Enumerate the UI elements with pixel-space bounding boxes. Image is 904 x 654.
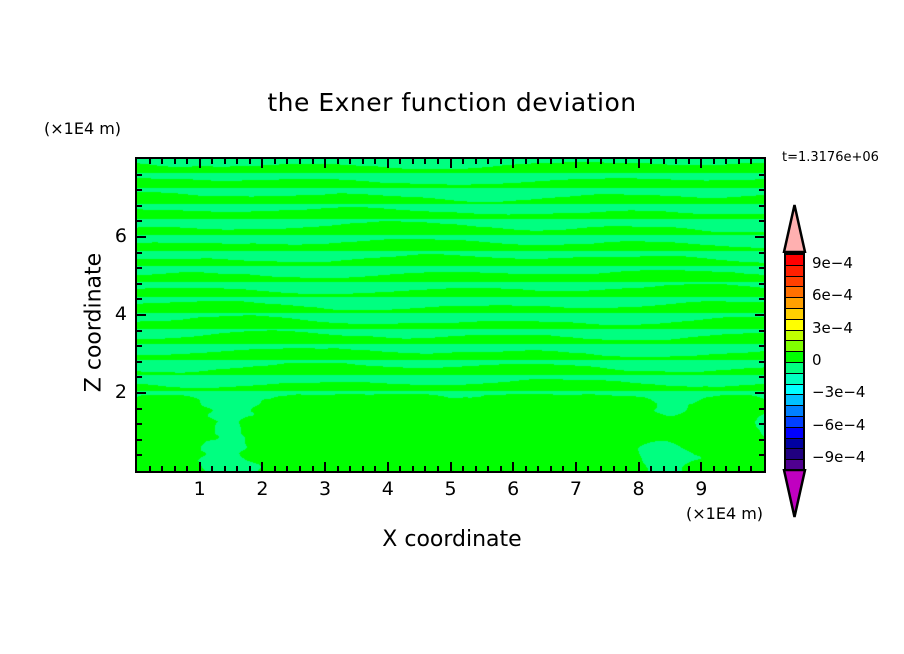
y-tick-minor-right bbox=[759, 205, 764, 207]
colorbar-tick-label: 3e−4 bbox=[812, 319, 853, 337]
colorbar-band bbox=[786, 298, 803, 309]
x-tick-minor-top bbox=[349, 159, 351, 164]
y-tick-minor-right bbox=[759, 408, 764, 410]
x-tick-minor-top bbox=[412, 159, 414, 164]
colorbar-band bbox=[786, 439, 803, 450]
x-tick-minor bbox=[613, 466, 615, 471]
x-tick-major bbox=[450, 462, 452, 471]
y-tick-minor-right bbox=[759, 439, 764, 441]
y-tick-minor bbox=[137, 330, 142, 332]
y-tick-minor bbox=[137, 439, 142, 441]
x-tick-major-top bbox=[324, 159, 326, 168]
x-tick-minor bbox=[224, 466, 226, 471]
x-tick-label: 1 bbox=[180, 478, 220, 500]
y-tick-major bbox=[137, 392, 146, 394]
x-tick-minor-top bbox=[211, 159, 213, 164]
x-tick-minor bbox=[174, 466, 176, 471]
x-tick-label: 4 bbox=[368, 478, 408, 500]
x-tick-minor bbox=[713, 466, 715, 471]
x-tick-major bbox=[199, 462, 201, 471]
x-tick-minor bbox=[149, 466, 151, 471]
x-tick-minor-top bbox=[462, 159, 464, 164]
x-tick-minor-top bbox=[525, 159, 527, 164]
x-tick-minor-top bbox=[224, 159, 226, 164]
colorbar-band bbox=[786, 395, 803, 406]
x-tick-minor-top bbox=[650, 159, 652, 164]
x-tick-minor-top bbox=[337, 159, 339, 164]
y-tick-minor bbox=[137, 345, 142, 347]
y-tick-minor bbox=[137, 220, 142, 222]
y-tick-label: 2 bbox=[87, 381, 127, 403]
colorbar-band bbox=[786, 417, 803, 428]
x-tick-minor bbox=[725, 466, 727, 471]
x-tick-minor-top bbox=[149, 159, 151, 164]
contour-plot-figure: the Exner function deviation (×1E4 m) t=… bbox=[0, 0, 904, 654]
x-tick-major bbox=[638, 462, 640, 471]
y-tick-minor-right bbox=[759, 267, 764, 269]
y-tick-minor bbox=[137, 205, 142, 207]
x-tick-minor bbox=[399, 466, 401, 471]
x-tick-minor-top bbox=[537, 159, 539, 164]
y-tick-minor bbox=[137, 376, 142, 378]
z-axis-unit-label: (×1E4 m) bbox=[44, 119, 121, 138]
x-tick-minor bbox=[550, 466, 552, 471]
y-tick-minor-right bbox=[759, 314, 764, 316]
y-tick-minor bbox=[137, 298, 142, 300]
x-tick-minor bbox=[337, 466, 339, 471]
y-tick-minor-right bbox=[759, 220, 764, 222]
y-tick-minor-right bbox=[759, 330, 764, 332]
y-tick-minor bbox=[137, 314, 142, 316]
colorbar-band bbox=[786, 428, 803, 439]
colorbar-over-arrow bbox=[780, 203, 809, 253]
y-tick-minor bbox=[137, 189, 142, 191]
colorbar-band bbox=[786, 374, 803, 385]
x-tick-minor-top bbox=[274, 159, 276, 164]
colorbar-tick-label: 0 bbox=[812, 351, 822, 369]
x-tick-minor-top bbox=[738, 159, 740, 164]
x-tick-major-top bbox=[575, 159, 577, 168]
y-tick-minor-right bbox=[759, 361, 764, 363]
colorbar-band bbox=[786, 309, 803, 320]
x-tick-major bbox=[261, 462, 263, 471]
x-tick-minor-top bbox=[587, 159, 589, 164]
x-tick-minor bbox=[650, 466, 652, 471]
x-tick-label: 9 bbox=[681, 478, 721, 500]
x-tick-minor-top bbox=[399, 159, 401, 164]
colorbar-band bbox=[786, 287, 803, 298]
x-tick-minor-top bbox=[613, 159, 615, 164]
colorbar-band bbox=[786, 449, 803, 460]
x-tick-major-top bbox=[638, 159, 640, 168]
x-tick-minor bbox=[462, 466, 464, 471]
x-tick-minor-top bbox=[675, 159, 677, 164]
y-tick-minor-right bbox=[759, 423, 764, 425]
y-tick-minor bbox=[137, 267, 142, 269]
colorbar-band bbox=[786, 277, 803, 288]
x-tick-minor bbox=[688, 466, 690, 471]
x-tick-major-top bbox=[261, 159, 263, 168]
x-tick-minor bbox=[663, 466, 665, 471]
y-tick-major bbox=[137, 236, 146, 238]
x-tick-minor-top bbox=[362, 159, 364, 164]
x-tick-minor-top bbox=[249, 159, 251, 164]
x-tick-minor bbox=[312, 466, 314, 471]
y-tick-minor bbox=[137, 454, 142, 456]
colorbar-band bbox=[786, 341, 803, 352]
x-tick-minor bbox=[475, 466, 477, 471]
x-tick-minor-top bbox=[174, 159, 176, 164]
x-tick-minor-top bbox=[750, 159, 752, 164]
x-tick-minor bbox=[437, 466, 439, 471]
x-tick-minor bbox=[274, 466, 276, 471]
colorbar-under-arrow bbox=[780, 469, 809, 519]
x-tick-minor bbox=[600, 466, 602, 471]
colorbar-band bbox=[786, 331, 803, 342]
colorbar-band bbox=[786, 320, 803, 331]
contour-field bbox=[137, 159, 764, 471]
x-tick-minor bbox=[587, 466, 589, 471]
x-tick-minor bbox=[412, 466, 414, 471]
x-tick-major bbox=[387, 462, 389, 471]
y-tick-minor-right bbox=[759, 189, 764, 191]
colorbar-tick-label: −9e−4 bbox=[812, 448, 865, 466]
x-tick-minor bbox=[211, 466, 213, 471]
x-tick-minor bbox=[299, 466, 301, 471]
x-tick-label: 8 bbox=[619, 478, 659, 500]
y-tick-minor-right bbox=[759, 252, 764, 254]
colorbar-band bbox=[786, 385, 803, 396]
y-tick-minor bbox=[137, 408, 142, 410]
x-tick-minor-top bbox=[186, 159, 188, 164]
x-tick-minor-top bbox=[600, 159, 602, 164]
y-tick-minor-right bbox=[759, 376, 764, 378]
colorbar-tick-label: 9e−4 bbox=[812, 254, 853, 272]
y-tick-minor-right bbox=[759, 298, 764, 300]
colorbar-band bbox=[786, 352, 803, 363]
x-tick-minor-top bbox=[625, 159, 627, 164]
x-tick-minor-top bbox=[161, 159, 163, 164]
x-tick-label: 3 bbox=[305, 478, 345, 500]
plot-area bbox=[135, 157, 766, 473]
x-tick-minor bbox=[424, 466, 426, 471]
x-tick-minor bbox=[186, 466, 188, 471]
x-tick-minor-top bbox=[236, 159, 238, 164]
colorbar-tick-label: −6e−4 bbox=[812, 416, 865, 434]
x-tick-minor-top bbox=[487, 159, 489, 164]
x-tick-minor-top bbox=[663, 159, 665, 164]
y-tick-minor bbox=[137, 283, 142, 285]
x-tick-label: 5 bbox=[431, 478, 471, 500]
y-tick-minor bbox=[137, 252, 142, 254]
x-tick-major bbox=[512, 462, 514, 471]
x-tick-minor-top bbox=[286, 159, 288, 164]
x-tick-minor bbox=[525, 466, 527, 471]
y-tick-minor-right bbox=[759, 283, 764, 285]
x-tick-minor bbox=[500, 466, 502, 471]
x-tick-minor-top bbox=[437, 159, 439, 164]
x-tick-minor bbox=[750, 466, 752, 471]
colorbar-band bbox=[786, 255, 803, 266]
x-tick-minor-top bbox=[562, 159, 564, 164]
x-tick-major-top bbox=[700, 159, 702, 168]
colorbar-tick-label: −3e−4 bbox=[812, 383, 865, 401]
page-title: the Exner function deviation bbox=[0, 88, 904, 117]
x-tick-major-top bbox=[387, 159, 389, 168]
x-tick-minor-top bbox=[299, 159, 301, 164]
x-tick-major bbox=[700, 462, 702, 471]
x-axis-unit-label: (×1E4 m) bbox=[686, 504, 763, 523]
x-tick-minor bbox=[161, 466, 163, 471]
x-tick-minor bbox=[625, 466, 627, 471]
x-tick-minor-top bbox=[312, 159, 314, 164]
x-tick-minor-top bbox=[374, 159, 376, 164]
x-tick-minor bbox=[249, 466, 251, 471]
x-tick-label: 6 bbox=[493, 478, 533, 500]
y-tick-label: 4 bbox=[87, 303, 127, 325]
x-tick-major-top bbox=[450, 159, 452, 168]
colorbar bbox=[784, 253, 805, 469]
x-tick-label: 2 bbox=[242, 478, 282, 500]
colorbar-band bbox=[786, 266, 803, 277]
x-tick-major bbox=[575, 462, 577, 471]
y-tick-minor bbox=[137, 174, 142, 176]
y-tick-major-right bbox=[755, 392, 764, 394]
x-tick-minor bbox=[362, 466, 364, 471]
x-tick-minor bbox=[286, 466, 288, 471]
x-tick-minor bbox=[349, 466, 351, 471]
x-tick-minor-top bbox=[725, 159, 727, 164]
x-tick-minor-top bbox=[550, 159, 552, 164]
colorbar-band bbox=[786, 363, 803, 374]
x-tick-major-top bbox=[199, 159, 201, 168]
x-tick-minor-top bbox=[475, 159, 477, 164]
x-tick-minor bbox=[562, 466, 564, 471]
x-tick-minor bbox=[675, 466, 677, 471]
y-tick-major-right bbox=[755, 236, 764, 238]
x-tick-minor bbox=[537, 466, 539, 471]
y-tick-minor bbox=[137, 423, 142, 425]
x-axis-title: X coordinate bbox=[0, 527, 904, 552]
x-tick-minor bbox=[236, 466, 238, 471]
x-tick-major-top bbox=[512, 159, 514, 168]
y-tick-minor-right bbox=[759, 454, 764, 456]
colorbar-band bbox=[786, 406, 803, 417]
x-tick-minor-top bbox=[500, 159, 502, 164]
x-tick-minor-top bbox=[713, 159, 715, 164]
colorbar-tick-label: 6e−4 bbox=[812, 286, 853, 304]
y-tick-minor bbox=[137, 361, 142, 363]
x-tick-minor-top bbox=[424, 159, 426, 164]
x-tick-minor bbox=[374, 466, 376, 471]
x-tick-minor-top bbox=[688, 159, 690, 164]
y-tick-label: 6 bbox=[87, 225, 127, 247]
x-tick-minor bbox=[738, 466, 740, 471]
y-tick-minor-right bbox=[759, 345, 764, 347]
x-tick-major bbox=[324, 462, 326, 471]
x-tick-minor bbox=[487, 466, 489, 471]
y-tick-minor-right bbox=[759, 174, 764, 176]
timestamp-label: t=1.3176e+06 bbox=[782, 150, 879, 165]
x-tick-label: 7 bbox=[556, 478, 596, 500]
